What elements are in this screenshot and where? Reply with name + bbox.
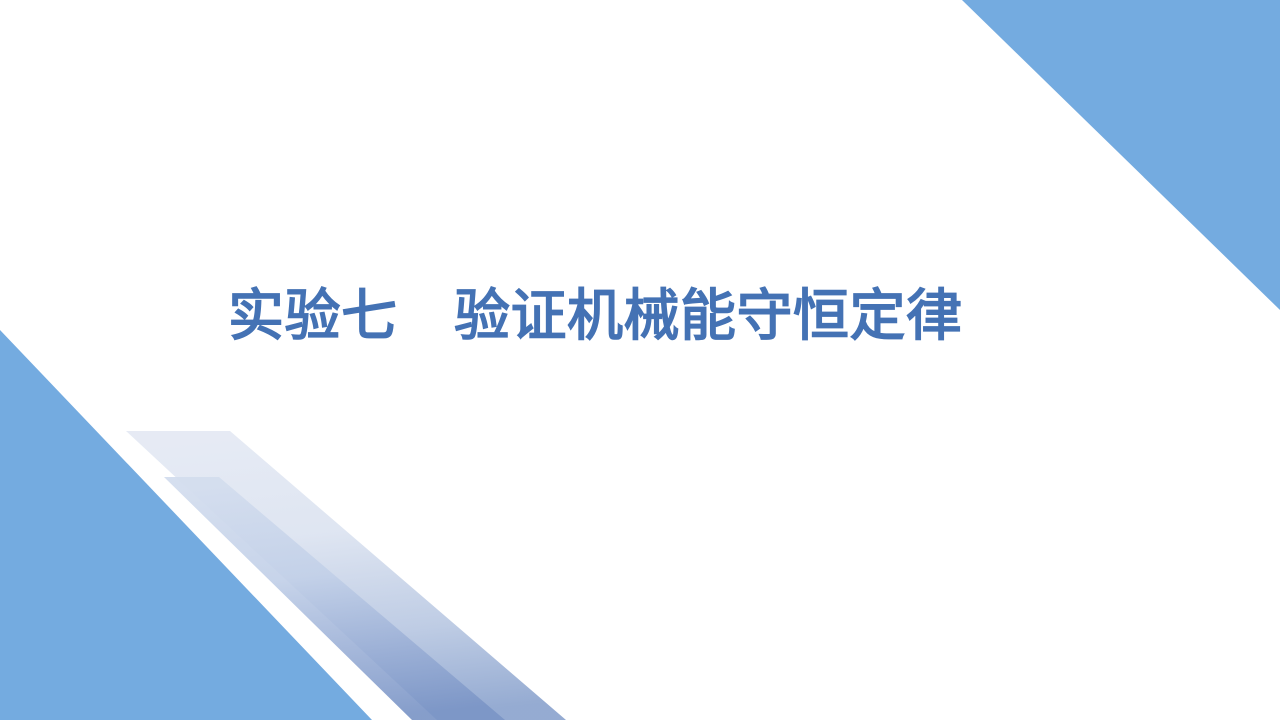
bottom-left-triangle-shape (0, 330, 372, 720)
title-block: 实验七 验证机械能守恒定律 (228, 276, 1128, 356)
slide-canvas: 实验七 验证机械能守恒定律 (0, 0, 1280, 720)
decorative-background (0, 0, 1280, 720)
top-right-triangle-shape (962, 0, 1280, 310)
page-title: 实验七 验证机械能守恒定律 (228, 284, 963, 348)
lower-chevron-band-shape (164, 477, 505, 720)
upper-chevron-band-shape (126, 431, 566, 720)
